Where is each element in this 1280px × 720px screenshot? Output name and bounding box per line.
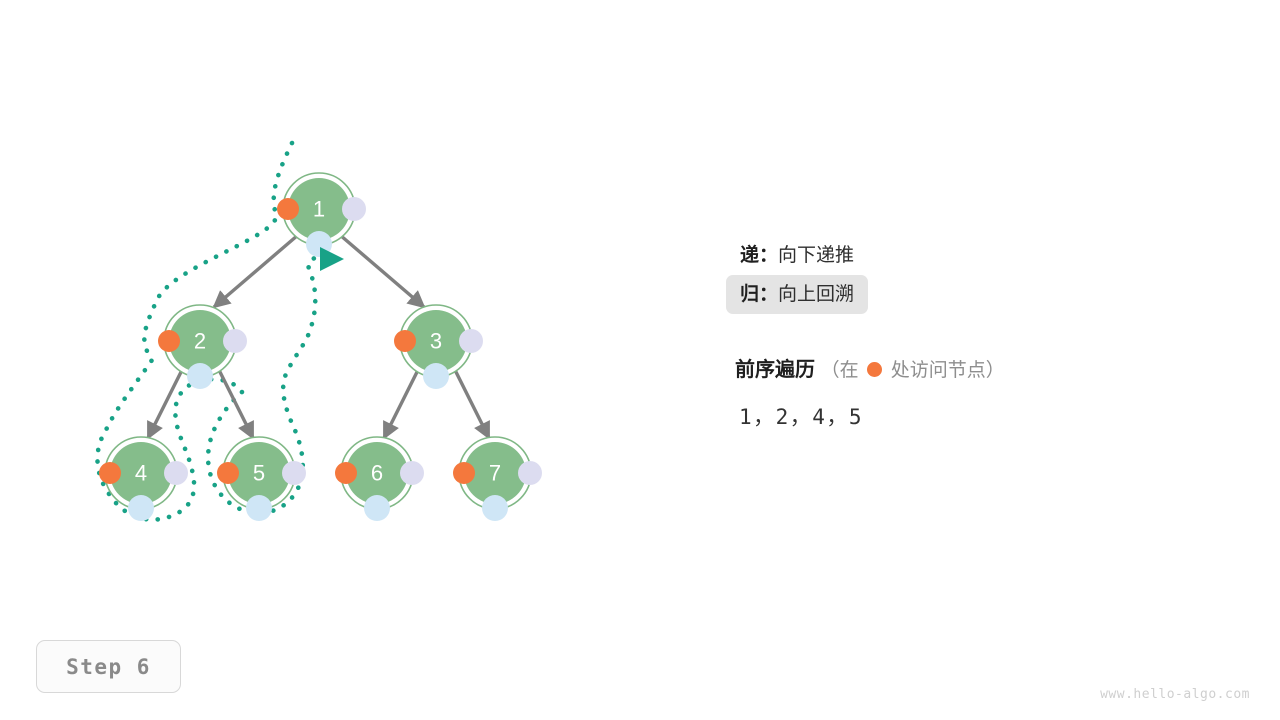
tree-node-2: 2 — [158, 305, 247, 389]
return-dot-icon — [400, 461, 424, 485]
legend-row-0: 递：向下递推 — [726, 236, 1146, 275]
tree-node-7: 7 — [453, 437, 542, 521]
return-dot-icon — [282, 461, 306, 485]
return-dot-icon — [518, 461, 542, 485]
node-label: 6 — [371, 461, 383, 486]
inorder-dot-icon — [364, 495, 390, 521]
visit-dot-icon — [335, 462, 357, 484]
legend-value-backtrack: 向上回溯 — [778, 284, 854, 305]
visit-dot-icon — [277, 198, 299, 220]
current-position-marker — [320, 247, 344, 271]
visit-dot-icon — [217, 462, 239, 484]
legend-line-backtrack: 归：向上回溯 — [726, 275, 868, 314]
node-label: 3 — [430, 329, 442, 354]
return-dot-icon — [459, 329, 483, 353]
inorder-dot-icon — [128, 495, 154, 521]
pointer-triangle-icon — [320, 247, 344, 271]
visit-dot-icon — [158, 330, 180, 352]
edge-3-7 — [454, 368, 489, 438]
node-label: 1 — [313, 197, 325, 222]
legend-panel: 递：向下递推 归：向上回溯 — [726, 236, 1146, 314]
traversal-sequence: 1，2，4，5 — [726, 401, 1156, 431]
node-label: 4 — [135, 461, 147, 486]
inorder-dot-icon — [423, 363, 449, 389]
tree-node-5: 5 — [217, 437, 306, 521]
return-dot-icon — [342, 197, 366, 221]
traversal-title-row: 前序遍历 （在 处访问节点） — [726, 360, 1156, 380]
return-dot-icon — [223, 329, 247, 353]
legend-row-1: 归：向上回溯 — [726, 275, 1146, 314]
edge-1-2 — [214, 235, 298, 307]
step-badge: Step 6 — [36, 640, 181, 693]
inorder-dot-icon — [187, 363, 213, 389]
node-label: 7 — [489, 461, 501, 486]
tree-node-4: 4 — [99, 437, 188, 521]
inorder-dot-icon — [246, 495, 272, 521]
tree-node-3: 3 — [394, 305, 483, 389]
tree-node-6: 6 — [335, 437, 424, 521]
return-dot-icon — [164, 461, 188, 485]
traversal-title: 前序遍历 — [735, 359, 815, 381]
edge-2-5 — [218, 368, 253, 438]
edge-3-6 — [384, 368, 419, 438]
visit-dot-icon — [99, 462, 121, 484]
legend-key-backtrack: 归： — [740, 284, 778, 305]
visit-dot-icon — [394, 330, 416, 352]
traversal-block: 前序遍历 （在 处访问节点） 1，2，4，5 — [726, 360, 1156, 431]
inorder-dot-icon — [482, 495, 508, 521]
node-label: 2 — [194, 329, 206, 354]
visit-marker-dot-icon — [867, 362, 882, 377]
visit-dot-icon — [453, 462, 475, 484]
watermark: www.hello-algo.com — [1100, 687, 1250, 702]
legend-line-recurse: 递：向下递推 — [726, 236, 868, 275]
traversal-note-suffix: 处访问节点） — [891, 360, 1005, 381]
legend-value-recurse: 向下递推 — [778, 245, 854, 266]
legend-key-recurse: 递： — [740, 245, 778, 266]
node-label: 5 — [253, 461, 265, 486]
edge-1-3 — [340, 235, 424, 307]
traversal-note-prefix: （在 — [821, 360, 859, 381]
tree-nodes: 1234567 — [99, 173, 542, 521]
